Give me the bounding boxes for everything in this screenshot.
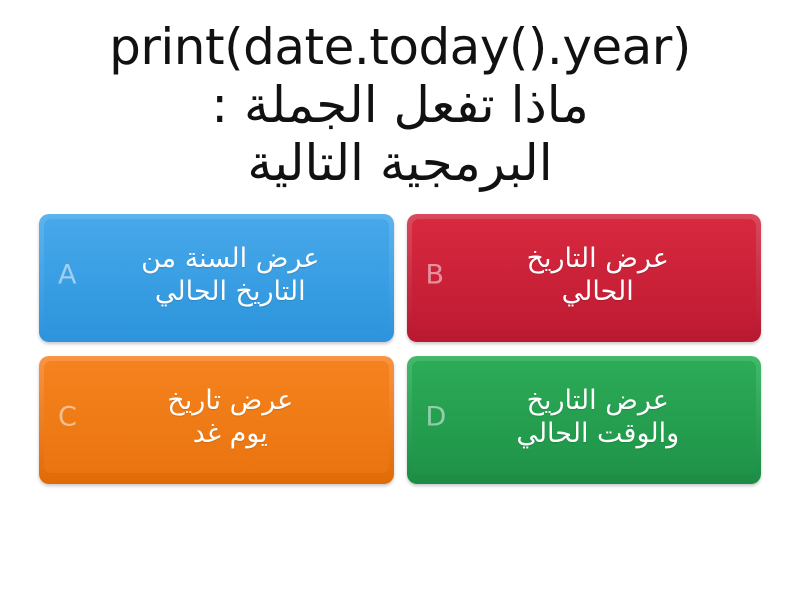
answer-option-c-face: C عرض تاريخ يوم غد [44,361,389,473]
answer-text-b: عرض التاريخ الحالي [483,242,685,309]
answer-letter-c: C [58,404,77,431]
answer-option-a[interactable]: A عرض السنة من التاريخ الحالي [39,214,394,342]
answer-option-d-face: D عرض التاريخ والوقت الحالي [412,361,757,473]
answer-option-a-face: A عرض السنة من التاريخ الحالي [44,219,389,331]
answer-letter-a: A [58,262,76,289]
question-text: print(date.today().year) ماذا تفعل الجمل… [109,18,691,192]
answer-letter-b: B [426,262,445,289]
answer-option-b[interactable]: B عرض التاريخ الحالي [407,214,762,342]
answer-text-a: عرض السنة من التاريخ الحالي [97,242,335,309]
answer-text-d: عرض التاريخ والوقت الحالي [472,384,695,451]
answer-letter-d: D [426,404,447,431]
answer-option-b-face: B عرض التاريخ الحالي [412,219,757,331]
question-area: print(date.today().year) ماذا تفعل الجمل… [0,0,800,192]
answer-option-d[interactable]: D عرض التاريخ والوقت الحالي [407,356,762,484]
answer-text-c: عرض تاريخ يوم غد [123,384,309,451]
answer-options-grid: A عرض السنة من التاريخ الحالي B عرض التا… [39,214,761,484]
answer-option-c[interactable]: C عرض تاريخ يوم غد [39,356,394,484]
